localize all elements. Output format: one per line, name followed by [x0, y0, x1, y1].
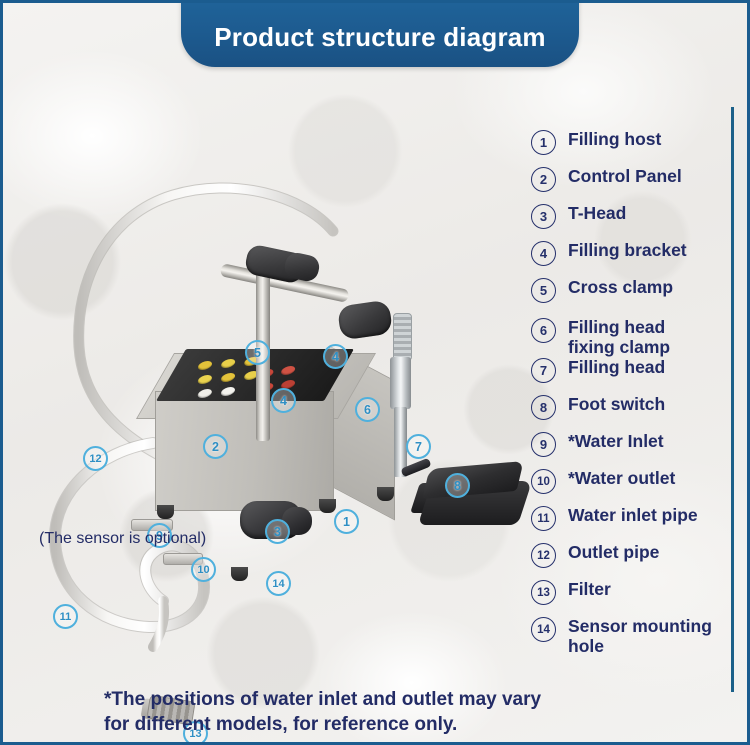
- legend-label-9: *Water Inlet: [568, 431, 664, 451]
- control-panel-button-1[interactable]: [196, 361, 214, 370]
- legend-item-14: 14Sensor mounting hole: [531, 616, 743, 656]
- legend-label-2: Control Panel: [568, 166, 682, 186]
- control-panel-button-4[interactable]: [196, 375, 214, 384]
- legend-item-7: 7Filling head: [531, 357, 665, 383]
- legend-number-8: 8: [531, 395, 556, 420]
- callout-marker-10: 10: [191, 557, 216, 582]
- control-panel-button-8[interactable]: [219, 387, 237, 396]
- callout-marker-11: 11: [53, 604, 78, 629]
- product-illustration: 54467212819310141113: [3, 91, 528, 691]
- legend-label-1: Filling host: [568, 129, 661, 149]
- legend-item-9: 9*Water Inlet: [531, 431, 664, 457]
- callout-marker-6: 6: [355, 397, 380, 422]
- legend-number-9: 9: [531, 432, 556, 457]
- legend-number-11: 11: [531, 506, 556, 531]
- legend-item-5: 5Cross clamp: [531, 277, 673, 303]
- legend-item-12: 12Outlet pipe: [531, 542, 659, 568]
- legend-label-8: Foot switch: [568, 394, 665, 414]
- legend-item-1: 1Filling host: [531, 129, 661, 155]
- legend-number-12: 12: [531, 543, 556, 568]
- legend-number-3: 3: [531, 204, 556, 229]
- callout-marker-8: 8: [445, 473, 470, 498]
- machine-foot-4: [377, 487, 394, 501]
- legend-note: (The sensor is optional): [39, 529, 206, 548]
- legend-label-7: Filling head: [568, 357, 665, 377]
- control-panel-button-10[interactable]: [279, 366, 297, 375]
- legend-item-4: 4Filling bracket: [531, 240, 687, 266]
- legend-label-6: Filling head fixing clamp: [568, 317, 670, 357]
- legend-label-11: Water inlet pipe: [568, 505, 698, 525]
- footnote-text: *The positions of water inlet and outlet…: [104, 687, 664, 737]
- legend-label-12: Outlet pipe: [568, 542, 659, 562]
- legend-item-13: 13Filter: [531, 579, 611, 605]
- legend-number-2: 2: [531, 167, 556, 192]
- right-divider-rule: [731, 107, 734, 692]
- legend-label-13: Filter: [568, 579, 611, 599]
- filling-head-collar: [390, 357, 411, 409]
- legend-number-13: 13: [531, 580, 556, 605]
- machine-foot-3: [319, 499, 336, 513]
- product-structure-diagram-page: Product structure diagram: [0, 0, 750, 745]
- control-panel-button-7[interactable]: [196, 389, 214, 398]
- filling-head-barb: [393, 313, 412, 361]
- callout-marker-4: 4: [323, 344, 348, 369]
- callout-marker-14: 14: [266, 571, 291, 596]
- callout-marker-1: 1: [334, 509, 359, 534]
- control-panel-button-5[interactable]: [219, 373, 237, 382]
- callout-marker-2: 2: [203, 434, 228, 459]
- legend-number-10: 10: [531, 469, 556, 494]
- legend-label-4: Filling bracket: [568, 240, 687, 260]
- legend-label-10: *Water outlet: [568, 468, 675, 488]
- legend-number-6: 6: [531, 318, 556, 343]
- callout-marker-5: 5: [245, 340, 270, 365]
- header-banner: Product structure diagram: [181, 0, 579, 67]
- legend-item-11: 11Water inlet pipe: [531, 505, 698, 531]
- callout-marker-3: 3: [265, 519, 290, 544]
- legend-number-14: 14: [531, 617, 556, 642]
- machine-body-front: [155, 391, 334, 511]
- legend-label-5: Cross clamp: [568, 277, 673, 297]
- legend-number-1: 1: [531, 130, 556, 155]
- legend-item-6: 6Filling head fixing clamp: [531, 317, 670, 357]
- callout-marker-4: 4: [271, 388, 296, 413]
- machine-foot-1: [157, 505, 174, 519]
- legend-number-5: 5: [531, 278, 556, 303]
- legend-item-8: 8Foot switch: [531, 394, 665, 420]
- legend-item-10: 10*Water outlet: [531, 468, 675, 494]
- legend-item-3: 3T-Head: [531, 203, 626, 229]
- callout-marker-7: 7: [406, 434, 431, 459]
- page-title: Product structure diagram: [214, 22, 546, 53]
- callout-marker-12: 12: [83, 446, 108, 471]
- machine-foot-2: [231, 567, 248, 581]
- control-panel-button-2[interactable]: [219, 359, 237, 368]
- legend-item-2: 2Control Panel: [531, 166, 682, 192]
- legend-number-7: 7: [531, 358, 556, 383]
- legend-label-14: Sensor mounting hole: [568, 616, 743, 656]
- legend-number-4: 4: [531, 241, 556, 266]
- legend-label-3: T-Head: [568, 203, 626, 223]
